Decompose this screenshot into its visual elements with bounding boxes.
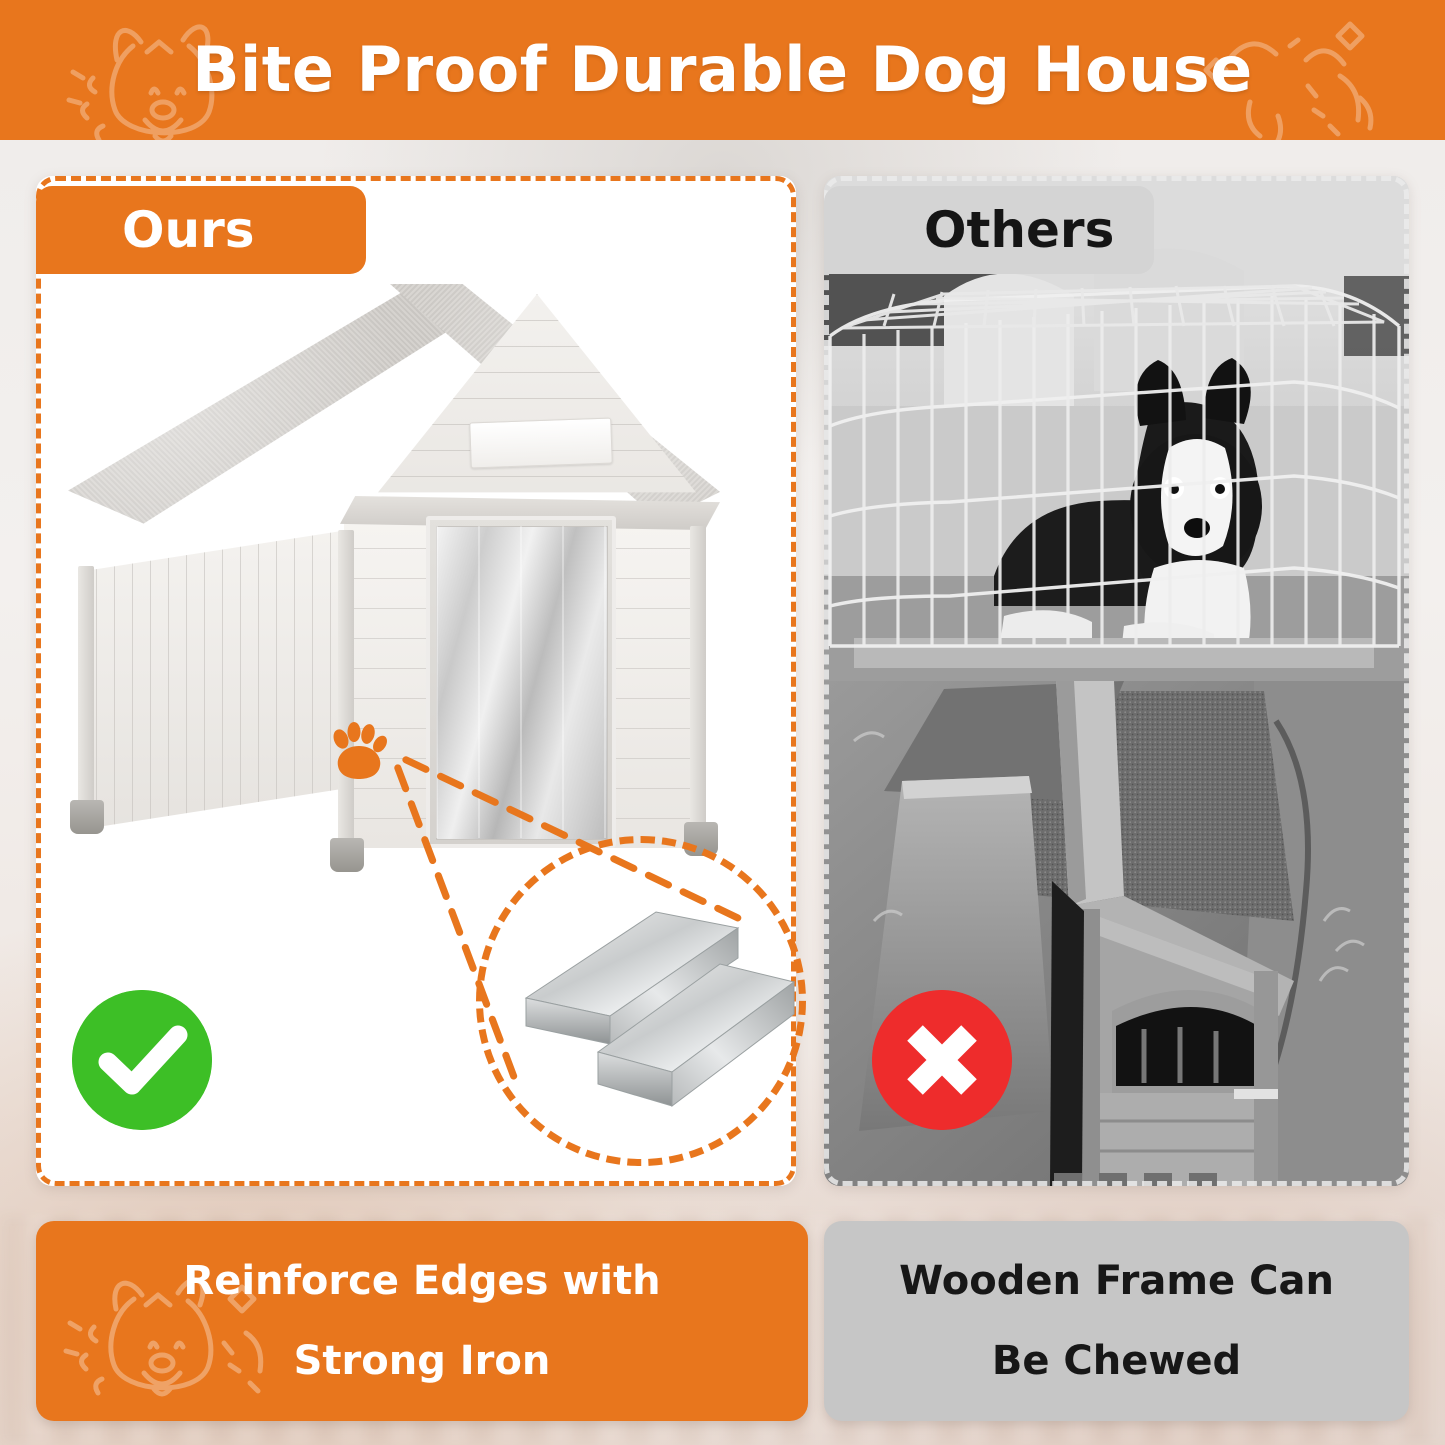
caption-ours: Reinforce Edges with Strong Iron xyxy=(36,1221,808,1421)
check-circle-icon xyxy=(72,990,212,1130)
paw-print-icon xyxy=(328,722,390,784)
caption-others-line1: Wooden Frame Can xyxy=(899,1261,1334,1301)
tab-ours[interactable]: Ours xyxy=(36,186,366,274)
caption-ours-line2: Strong Iron xyxy=(294,1341,551,1381)
corner-post-mid xyxy=(338,530,354,848)
tab-others-label: Others xyxy=(824,201,1114,259)
foot-mid xyxy=(330,838,364,872)
foot-left xyxy=(70,800,104,834)
product-doghouse-image xyxy=(60,280,760,920)
ours-panel xyxy=(36,176,796,1186)
page-title: Bite Proof Durable Dog House xyxy=(0,0,1445,140)
caption-ours-line1: Reinforce Edges with xyxy=(183,1261,660,1301)
corner-post-right xyxy=(690,526,706,834)
x-circle-icon xyxy=(872,990,1012,1130)
corner-post-left xyxy=(78,566,94,810)
tab-ours-label: Ours xyxy=(36,201,255,259)
caption-others: Wooden Frame Can Be Chewed xyxy=(824,1221,1409,1421)
header-banner: Bite Proof Durable Dog House xyxy=(0,0,1445,140)
tab-others[interactable]: Others xyxy=(824,186,1154,274)
caption-others-line2: Be Chewed xyxy=(992,1341,1241,1381)
others-panel xyxy=(824,176,1409,1186)
door-strip-lines xyxy=(436,526,606,838)
name-plaque xyxy=(469,418,613,469)
steel-angle-iron-detail-image xyxy=(506,876,806,1126)
left-wall-siding-lines xyxy=(78,530,348,830)
